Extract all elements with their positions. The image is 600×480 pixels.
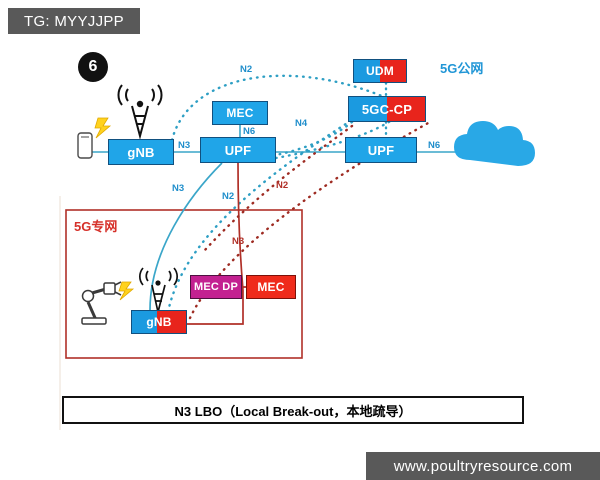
node-mec-dp[interactable]: MEC DP: [190, 275, 242, 299]
node-upf-right[interactable]: UPF: [345, 137, 417, 163]
caption-box: N3 LBO（Local Break-out，本地疏导）: [62, 396, 524, 424]
smartphone-icon: [78, 133, 92, 158]
cell-tower-icon-private: [140, 268, 177, 312]
link-label-n4: N4: [295, 118, 307, 129]
step-badge: 6: [78, 52, 108, 82]
link-label-n2-red-lower: N2: [276, 180, 288, 191]
watermark-bottom-right: www.poultryresource.com: [366, 452, 600, 480]
node-udm[interactable]: UDM: [353, 59, 407, 83]
link-label-n6-mec-upf: N6: [243, 126, 255, 137]
watermark-top-left: TG: MYYJJPP: [8, 8, 140, 34]
link-label-n2-blue-lower: N2: [222, 191, 234, 202]
lightning-bolt-icon-public: [95, 118, 110, 138]
link-label-n6-cloud: N6: [428, 140, 440, 151]
node-gnb-private[interactable]: gNB: [131, 310, 187, 334]
lightning-bolt-icon-private: [119, 282, 133, 300]
link-label-n2-top: N2: [240, 64, 252, 75]
cloud-icon: [454, 121, 535, 166]
node-mec-public[interactable]: MEC: [212, 101, 268, 125]
node-upf-left[interactable]: UPF: [200, 137, 276, 163]
node-gnb-public[interactable]: gNB: [108, 139, 174, 165]
robot-arm-icon: [82, 282, 121, 324]
node-5gc-cp[interactable]: 5GC-CP: [348, 96, 426, 122]
node-mec-private[interactable]: MEC: [246, 275, 296, 299]
link-n3-upf-to-mecdp: [238, 163, 243, 290]
link-label-n3-red-private: N3: [232, 236, 244, 247]
link-label-n3-gnb-upf: N3: [178, 140, 190, 151]
label-private-network: 5G专网: [74, 216, 117, 235]
cell-tower-icon-public: [118, 85, 161, 136]
diagram-canvas: gNB MEC UPF UPF UDM 5GC-CP gNB MEC DP ME…: [0, 0, 600, 480]
label-public-network: 5G公网: [440, 58, 483, 77]
link-label-n3-blue-lower: N3: [172, 183, 184, 194]
